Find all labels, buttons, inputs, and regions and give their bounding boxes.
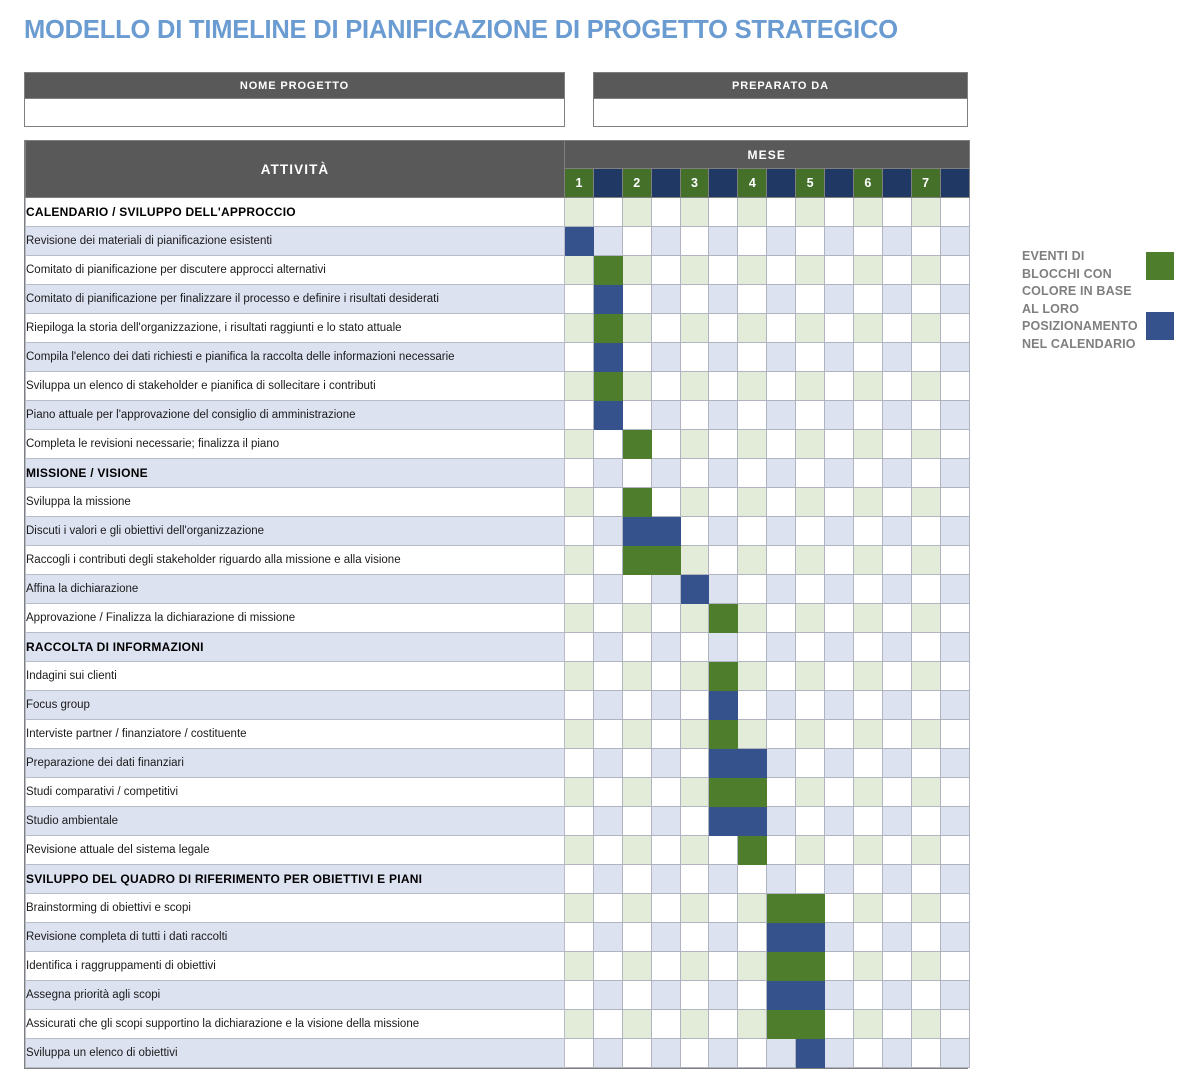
timeline-bar-cell[interactable] bbox=[622, 488, 651, 517]
timeline-cell[interactable] bbox=[622, 1010, 651, 1039]
timeline-cell[interactable] bbox=[680, 430, 709, 459]
timeline-cell[interactable] bbox=[940, 778, 969, 807]
timeline-bar-cell[interactable] bbox=[709, 807, 738, 836]
timeline-cell[interactable] bbox=[882, 227, 911, 256]
timeline-bar-cell[interactable] bbox=[593, 372, 622, 401]
timeline-bar-cell[interactable] bbox=[767, 981, 796, 1010]
timeline-cell[interactable] bbox=[825, 923, 854, 952]
timeline-cell[interactable] bbox=[680, 952, 709, 981]
timeline-cell[interactable] bbox=[651, 836, 680, 865]
timeline-cell[interactable] bbox=[825, 778, 854, 807]
timeline-cell[interactable] bbox=[853, 894, 882, 923]
timeline-cell[interactable] bbox=[593, 778, 622, 807]
timeline-cell[interactable] bbox=[709, 517, 738, 546]
timeline-cell[interactable] bbox=[651, 952, 680, 981]
timeline-cell[interactable] bbox=[796, 227, 825, 256]
timeline-cell[interactable] bbox=[593, 981, 622, 1010]
timeline-cell[interactable] bbox=[825, 720, 854, 749]
timeline-cell[interactable] bbox=[709, 256, 738, 285]
timeline-cell[interactable] bbox=[565, 198, 594, 227]
timeline-bar-cell[interactable] bbox=[738, 749, 767, 778]
timeline-cell[interactable] bbox=[680, 256, 709, 285]
timeline-bar-cell[interactable] bbox=[622, 546, 651, 575]
timeline-cell[interactable] bbox=[825, 372, 854, 401]
timeline-cell[interactable] bbox=[882, 488, 911, 517]
timeline-cell[interactable] bbox=[767, 256, 796, 285]
timeline-cell[interactable] bbox=[680, 314, 709, 343]
timeline-cell[interactable] bbox=[767, 430, 796, 459]
timeline-cell[interactable] bbox=[911, 314, 940, 343]
timeline-cell[interactable] bbox=[940, 952, 969, 981]
timeline-cell[interactable] bbox=[651, 749, 680, 778]
timeline-cell[interactable] bbox=[853, 749, 882, 778]
timeline-cell[interactable] bbox=[709, 836, 738, 865]
timeline-cell[interactable] bbox=[651, 633, 680, 662]
timeline-cell[interactable] bbox=[565, 691, 594, 720]
timeline-cell[interactable] bbox=[853, 807, 882, 836]
timeline-cell[interactable] bbox=[882, 575, 911, 604]
timeline-cell[interactable] bbox=[911, 952, 940, 981]
timeline-cell[interactable] bbox=[911, 662, 940, 691]
timeline-cell[interactable] bbox=[680, 285, 709, 314]
timeline-cell[interactable] bbox=[911, 894, 940, 923]
timeline-cell[interactable] bbox=[651, 314, 680, 343]
timeline-cell[interactable] bbox=[796, 807, 825, 836]
timeline-cell[interactable] bbox=[796, 256, 825, 285]
timeline-cell[interactable] bbox=[680, 517, 709, 546]
timeline-cell[interactable] bbox=[622, 720, 651, 749]
timeline-cell[interactable] bbox=[911, 430, 940, 459]
timeline-cell[interactable] bbox=[853, 662, 882, 691]
timeline-bar-cell[interactable] bbox=[796, 1010, 825, 1039]
timeline-cell[interactable] bbox=[738, 227, 767, 256]
timeline-bar-cell[interactable] bbox=[709, 749, 738, 778]
timeline-bar-cell[interactable] bbox=[593, 285, 622, 314]
timeline-cell[interactable] bbox=[622, 314, 651, 343]
timeline-bar-cell[interactable] bbox=[738, 836, 767, 865]
timeline-cell[interactable] bbox=[622, 285, 651, 314]
timeline-cell[interactable] bbox=[940, 720, 969, 749]
timeline-cell[interactable] bbox=[738, 1039, 767, 1068]
timeline-cell[interactable] bbox=[738, 256, 767, 285]
timeline-bar-cell[interactable] bbox=[767, 894, 796, 923]
timeline-cell[interactable] bbox=[796, 343, 825, 372]
timeline-bar-cell[interactable] bbox=[738, 778, 767, 807]
timeline-cell[interactable] bbox=[940, 372, 969, 401]
timeline-cell[interactable] bbox=[738, 604, 767, 633]
timeline-cell[interactable] bbox=[882, 198, 911, 227]
timeline-cell[interactable] bbox=[738, 691, 767, 720]
timeline-cell[interactable] bbox=[825, 604, 854, 633]
timeline-cell[interactable] bbox=[853, 720, 882, 749]
timeline-cell[interactable] bbox=[651, 401, 680, 430]
timeline-bar-cell[interactable] bbox=[709, 720, 738, 749]
timeline-cell[interactable] bbox=[940, 749, 969, 778]
timeline-cell[interactable] bbox=[622, 778, 651, 807]
timeline-cell[interactable] bbox=[738, 459, 767, 488]
timeline-cell[interactable] bbox=[622, 256, 651, 285]
timeline-cell[interactable] bbox=[767, 285, 796, 314]
timeline-cell[interactable] bbox=[593, 1039, 622, 1068]
timeline-cell[interactable] bbox=[738, 633, 767, 662]
timeline-cell[interactable] bbox=[622, 749, 651, 778]
timeline-cell[interactable] bbox=[882, 1010, 911, 1039]
timeline-cell[interactable] bbox=[825, 865, 854, 894]
timeline-cell[interactable] bbox=[651, 227, 680, 256]
timeline-cell[interactable] bbox=[593, 749, 622, 778]
timeline-cell[interactable] bbox=[796, 662, 825, 691]
timeline-cell[interactable] bbox=[622, 575, 651, 604]
timeline-cell[interactable] bbox=[940, 807, 969, 836]
timeline-cell[interactable] bbox=[738, 865, 767, 894]
timeline-cell[interactable] bbox=[709, 1010, 738, 1039]
timeline-cell[interactable] bbox=[940, 981, 969, 1010]
timeline-cell[interactable] bbox=[565, 517, 594, 546]
timeline-cell[interactable] bbox=[853, 401, 882, 430]
timeline-cell[interactable] bbox=[825, 691, 854, 720]
timeline-cell[interactable] bbox=[709, 198, 738, 227]
timeline-cell[interactable] bbox=[853, 372, 882, 401]
timeline-cell[interactable] bbox=[825, 256, 854, 285]
timeline-cell[interactable] bbox=[680, 807, 709, 836]
timeline-cell[interactable] bbox=[796, 836, 825, 865]
timeline-cell[interactable] bbox=[680, 749, 709, 778]
timeline-cell[interactable] bbox=[622, 981, 651, 1010]
timeline-cell[interactable] bbox=[622, 604, 651, 633]
timeline-cell[interactable] bbox=[853, 227, 882, 256]
timeline-bar-cell[interactable] bbox=[622, 517, 651, 546]
timeline-bar-cell[interactable] bbox=[767, 1010, 796, 1039]
timeline-cell[interactable] bbox=[593, 459, 622, 488]
timeline-cell[interactable] bbox=[796, 633, 825, 662]
timeline-cell[interactable] bbox=[565, 256, 594, 285]
timeline-cell[interactable] bbox=[680, 720, 709, 749]
timeline-cell[interactable] bbox=[738, 517, 767, 546]
timeline-bar-cell[interactable] bbox=[709, 662, 738, 691]
timeline-cell[interactable] bbox=[853, 604, 882, 633]
timeline-cell[interactable] bbox=[911, 865, 940, 894]
timeline-cell[interactable] bbox=[680, 923, 709, 952]
timeline-bar-cell[interactable] bbox=[565, 227, 594, 256]
timeline-cell[interactable] bbox=[565, 488, 594, 517]
timeline-cell[interactable] bbox=[796, 604, 825, 633]
timeline-cell[interactable] bbox=[767, 633, 796, 662]
timeline-cell[interactable] bbox=[853, 575, 882, 604]
timeline-cell[interactable] bbox=[593, 575, 622, 604]
timeline-cell[interactable] bbox=[911, 778, 940, 807]
timeline-cell[interactable] bbox=[767, 720, 796, 749]
timeline-bar-cell[interactable] bbox=[622, 430, 651, 459]
timeline-bar-cell[interactable] bbox=[796, 894, 825, 923]
timeline-cell[interactable] bbox=[767, 604, 796, 633]
timeline-cell[interactable] bbox=[651, 604, 680, 633]
timeline-cell[interactable] bbox=[651, 459, 680, 488]
timeline-cell[interactable] bbox=[767, 314, 796, 343]
timeline-cell[interactable] bbox=[738, 1010, 767, 1039]
timeline-cell[interactable] bbox=[853, 865, 882, 894]
timeline-cell[interactable] bbox=[825, 749, 854, 778]
timeline-cell[interactable] bbox=[709, 401, 738, 430]
timeline-cell[interactable] bbox=[593, 836, 622, 865]
timeline-cell[interactable] bbox=[651, 662, 680, 691]
timeline-cell[interactable] bbox=[825, 633, 854, 662]
timeline-cell[interactable] bbox=[709, 894, 738, 923]
timeline-cell[interactable] bbox=[882, 778, 911, 807]
timeline-cell[interactable] bbox=[940, 1010, 969, 1039]
timeline-cell[interactable] bbox=[680, 372, 709, 401]
timeline-cell[interactable] bbox=[853, 343, 882, 372]
timeline-cell[interactable] bbox=[738, 372, 767, 401]
timeline-cell[interactable] bbox=[882, 865, 911, 894]
timeline-bar-cell[interactable] bbox=[593, 314, 622, 343]
timeline-cell[interactable] bbox=[911, 749, 940, 778]
timeline-cell[interactable] bbox=[622, 372, 651, 401]
timeline-cell[interactable] bbox=[565, 343, 594, 372]
timeline-cell[interactable] bbox=[853, 430, 882, 459]
timeline-cell[interactable] bbox=[622, 836, 651, 865]
timeline-cell[interactable] bbox=[882, 430, 911, 459]
timeline-cell[interactable] bbox=[738, 981, 767, 1010]
timeline-cell[interactable] bbox=[680, 401, 709, 430]
timeline-cell[interactable] bbox=[882, 894, 911, 923]
timeline-bar-cell[interactable] bbox=[796, 952, 825, 981]
timeline-bar-cell[interactable] bbox=[796, 981, 825, 1010]
timeline-cell[interactable] bbox=[853, 198, 882, 227]
timeline-cell[interactable] bbox=[853, 1010, 882, 1039]
timeline-cell[interactable] bbox=[622, 227, 651, 256]
timeline-cell[interactable] bbox=[767, 691, 796, 720]
timeline-cell[interactable] bbox=[911, 691, 940, 720]
timeline-cell[interactable] bbox=[565, 546, 594, 575]
timeline-cell[interactable] bbox=[853, 459, 882, 488]
timeline-cell[interactable] bbox=[911, 198, 940, 227]
timeline-cell[interactable] bbox=[565, 952, 594, 981]
timeline-cell[interactable] bbox=[738, 401, 767, 430]
timeline-cell[interactable] bbox=[709, 430, 738, 459]
timeline-cell[interactable] bbox=[882, 720, 911, 749]
timeline-cell[interactable] bbox=[853, 546, 882, 575]
timeline-cell[interactable] bbox=[940, 894, 969, 923]
timeline-cell[interactable] bbox=[565, 749, 594, 778]
timeline-cell[interactable] bbox=[680, 778, 709, 807]
timeline-cell[interactable] bbox=[940, 836, 969, 865]
timeline-cell[interactable] bbox=[882, 836, 911, 865]
timeline-cell[interactable] bbox=[825, 894, 854, 923]
timeline-cell[interactable] bbox=[767, 343, 796, 372]
timeline-cell[interactable] bbox=[796, 575, 825, 604]
timeline-cell[interactable] bbox=[882, 633, 911, 662]
timeline-cell[interactable] bbox=[651, 575, 680, 604]
timeline-cell[interactable] bbox=[940, 662, 969, 691]
timeline-cell[interactable] bbox=[825, 575, 854, 604]
timeline-cell[interactable] bbox=[940, 401, 969, 430]
timeline-cell[interactable] bbox=[911, 1010, 940, 1039]
timeline-cell[interactable] bbox=[709, 865, 738, 894]
timeline-cell[interactable] bbox=[565, 401, 594, 430]
timeline-cell[interactable] bbox=[565, 662, 594, 691]
timeline-cell[interactable] bbox=[853, 517, 882, 546]
timeline-cell[interactable] bbox=[651, 894, 680, 923]
timeline-cell[interactable] bbox=[882, 285, 911, 314]
timeline-cell[interactable] bbox=[680, 604, 709, 633]
timeline-cell[interactable] bbox=[882, 1039, 911, 1068]
timeline-bar-cell[interactable] bbox=[651, 546, 680, 575]
timeline-cell[interactable] bbox=[940, 488, 969, 517]
timeline-cell[interactable] bbox=[709, 343, 738, 372]
timeline-cell[interactable] bbox=[796, 778, 825, 807]
timeline-cell[interactable] bbox=[940, 430, 969, 459]
timeline-bar-cell[interactable] bbox=[593, 256, 622, 285]
timeline-cell[interactable] bbox=[853, 488, 882, 517]
timeline-cell[interactable] bbox=[651, 372, 680, 401]
timeline-cell[interactable] bbox=[738, 285, 767, 314]
timeline-cell[interactable] bbox=[882, 923, 911, 952]
timeline-cell[interactable] bbox=[593, 488, 622, 517]
timeline-cell[interactable] bbox=[825, 488, 854, 517]
timeline-cell[interactable] bbox=[738, 662, 767, 691]
timeline-bar-cell[interactable] bbox=[767, 923, 796, 952]
timeline-cell[interactable] bbox=[709, 952, 738, 981]
timeline-cell[interactable] bbox=[940, 546, 969, 575]
timeline-cell[interactable] bbox=[882, 343, 911, 372]
timeline-cell[interactable] bbox=[565, 836, 594, 865]
timeline-cell[interactable] bbox=[825, 459, 854, 488]
timeline-cell[interactable] bbox=[940, 633, 969, 662]
timeline-cell[interactable] bbox=[565, 923, 594, 952]
timeline-cell[interactable] bbox=[680, 343, 709, 372]
timeline-cell[interactable] bbox=[940, 923, 969, 952]
timeline-bar-cell[interactable] bbox=[651, 517, 680, 546]
timeline-cell[interactable] bbox=[767, 517, 796, 546]
timeline-cell[interactable] bbox=[825, 517, 854, 546]
timeline-cell[interactable] bbox=[940, 198, 969, 227]
timeline-cell[interactable] bbox=[565, 1010, 594, 1039]
timeline-cell[interactable] bbox=[565, 314, 594, 343]
timeline-cell[interactable] bbox=[622, 459, 651, 488]
timeline-bar-cell[interactable] bbox=[738, 807, 767, 836]
timeline-cell[interactable] bbox=[767, 662, 796, 691]
timeline-cell[interactable] bbox=[680, 691, 709, 720]
timeline-cell[interactable] bbox=[709, 981, 738, 1010]
timeline-cell[interactable] bbox=[565, 633, 594, 662]
timeline-cell[interactable] bbox=[767, 807, 796, 836]
timeline-cell[interactable] bbox=[882, 662, 911, 691]
timeline-cell[interactable] bbox=[651, 488, 680, 517]
timeline-cell[interactable] bbox=[825, 836, 854, 865]
timeline-cell[interactable] bbox=[853, 981, 882, 1010]
timeline-cell[interactable] bbox=[709, 285, 738, 314]
timeline-cell[interactable] bbox=[565, 720, 594, 749]
timeline-cell[interactable] bbox=[709, 1039, 738, 1068]
timeline-cell[interactable] bbox=[940, 691, 969, 720]
timeline-cell[interactable] bbox=[796, 401, 825, 430]
timeline-cell[interactable] bbox=[593, 923, 622, 952]
timeline-cell[interactable] bbox=[940, 865, 969, 894]
timeline-cell[interactable] bbox=[593, 952, 622, 981]
timeline-cell[interactable] bbox=[911, 836, 940, 865]
timeline-cell[interactable] bbox=[738, 575, 767, 604]
timeline-cell[interactable] bbox=[882, 314, 911, 343]
timeline-cell[interactable] bbox=[796, 459, 825, 488]
timeline-cell[interactable] bbox=[622, 1039, 651, 1068]
timeline-cell[interactable] bbox=[680, 546, 709, 575]
timeline-cell[interactable] bbox=[651, 691, 680, 720]
timeline-cell[interactable] bbox=[680, 662, 709, 691]
timeline-cell[interactable] bbox=[825, 430, 854, 459]
timeline-cell[interactable] bbox=[622, 865, 651, 894]
timeline-cell[interactable] bbox=[622, 633, 651, 662]
timeline-cell[interactable] bbox=[565, 778, 594, 807]
timeline-cell[interactable] bbox=[680, 198, 709, 227]
timeline-cell[interactable] bbox=[651, 430, 680, 459]
timeline-cell[interactable] bbox=[565, 459, 594, 488]
timeline-cell[interactable] bbox=[622, 807, 651, 836]
timeline-cell[interactable] bbox=[853, 923, 882, 952]
timeline-cell[interactable] bbox=[911, 1039, 940, 1068]
timeline-cell[interactable] bbox=[593, 546, 622, 575]
timeline-cell[interactable] bbox=[882, 807, 911, 836]
timeline-cell[interactable] bbox=[680, 836, 709, 865]
timeline-cell[interactable] bbox=[940, 314, 969, 343]
timeline-cell[interactable] bbox=[680, 1010, 709, 1039]
timeline-cell[interactable] bbox=[796, 430, 825, 459]
timeline-cell[interactable] bbox=[593, 865, 622, 894]
timeline-cell[interactable] bbox=[882, 604, 911, 633]
timeline-cell[interactable] bbox=[709, 488, 738, 517]
timeline-cell[interactable] bbox=[825, 662, 854, 691]
timeline-bar-cell[interactable] bbox=[680, 575, 709, 604]
timeline-cell[interactable] bbox=[565, 372, 594, 401]
timeline-cell[interactable] bbox=[651, 285, 680, 314]
timeline-cell[interactable] bbox=[853, 778, 882, 807]
timeline-cell[interactable] bbox=[940, 227, 969, 256]
timeline-cell[interactable] bbox=[593, 720, 622, 749]
timeline-cell[interactable] bbox=[593, 894, 622, 923]
timeline-cell[interactable] bbox=[709, 633, 738, 662]
timeline-cell[interactable] bbox=[622, 198, 651, 227]
timeline-cell[interactable] bbox=[651, 1010, 680, 1039]
timeline-cell[interactable] bbox=[593, 227, 622, 256]
timeline-cell[interactable] bbox=[882, 517, 911, 546]
timeline-bar-cell[interactable] bbox=[709, 604, 738, 633]
timeline-cell[interactable] bbox=[738, 894, 767, 923]
timeline-cell[interactable] bbox=[565, 430, 594, 459]
timeline-cell[interactable] bbox=[738, 430, 767, 459]
timeline-bar-cell[interactable] bbox=[796, 1039, 825, 1068]
project-name-input[interactable] bbox=[24, 99, 565, 127]
timeline-cell[interactable] bbox=[796, 720, 825, 749]
timeline-cell[interactable] bbox=[853, 633, 882, 662]
timeline-cell[interactable] bbox=[796, 546, 825, 575]
timeline-cell[interactable] bbox=[738, 720, 767, 749]
timeline-cell[interactable] bbox=[825, 285, 854, 314]
timeline-cell[interactable] bbox=[767, 778, 796, 807]
timeline-cell[interactable] bbox=[593, 633, 622, 662]
timeline-cell[interactable] bbox=[767, 575, 796, 604]
timeline-cell[interactable] bbox=[622, 691, 651, 720]
timeline-cell[interactable] bbox=[651, 807, 680, 836]
prepared-by-input[interactable] bbox=[593, 99, 968, 127]
timeline-cell[interactable] bbox=[680, 488, 709, 517]
timeline-cell[interactable] bbox=[882, 952, 911, 981]
timeline-cell[interactable] bbox=[911, 923, 940, 952]
timeline-cell[interactable] bbox=[825, 952, 854, 981]
timeline-cell[interactable] bbox=[680, 981, 709, 1010]
timeline-cell[interactable] bbox=[622, 401, 651, 430]
timeline-bar-cell[interactable] bbox=[593, 343, 622, 372]
timeline-bar-cell[interactable] bbox=[796, 923, 825, 952]
timeline-cell[interactable] bbox=[911, 227, 940, 256]
